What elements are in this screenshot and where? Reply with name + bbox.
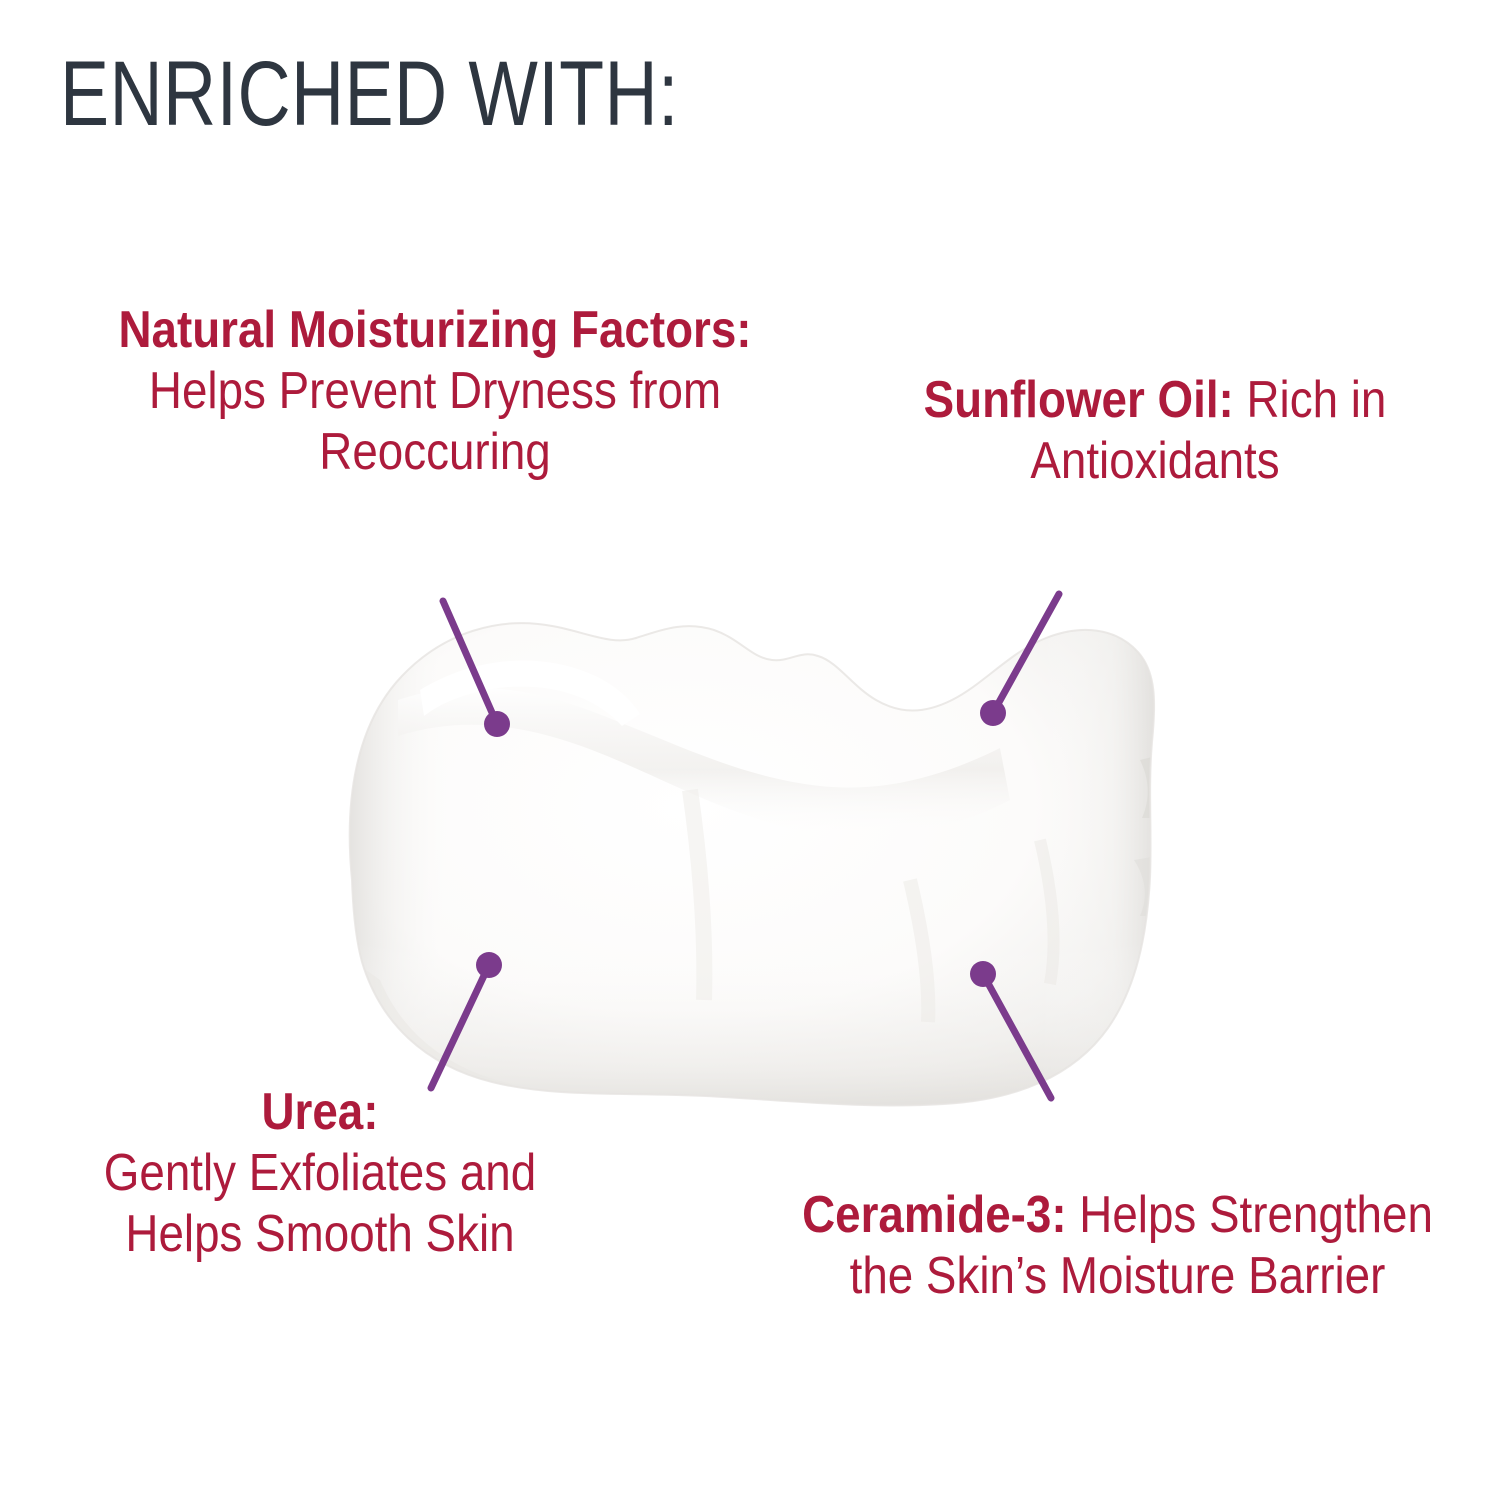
leader-line-ceramide-3	[970, 961, 1051, 1098]
infographic-canvas: ENRICHED WITH:	[0, 0, 1500, 1500]
callout-sunflower-oil: Sunflower Oil: Rich in Antioxidants	[860, 370, 1450, 492]
callout-urea: Urea: Gently Exfoliates and Helps Smooth…	[47, 1082, 593, 1264]
callout-term: Sunflower Oil:	[924, 371, 1234, 429]
leader-line-sunflower-oil	[980, 594, 1059, 726]
callout-natural-moisturizing-factors: Natural Moisturizing Factors: Helps Prev…	[70, 300, 800, 482]
callout-term: Ceramide-3:	[802, 1186, 1066, 1244]
leader-line-urea	[431, 952, 502, 1088]
callout-term: Urea:	[261, 1083, 378, 1141]
callout-description: Helps Prevent Dryness from Reoccuring	[149, 362, 721, 481]
page-title: ENRICHED WITH:	[60, 48, 679, 140]
callout-description: Gently Exfoliates and Helps Smooth Skin	[104, 1144, 536, 1263]
leader-line-natural-moisturizing-factors	[443, 601, 510, 737]
cream-blob	[340, 600, 1170, 1120]
callout-ceramide-3: Ceramide-3: Helps Strengthen the Skin’s …	[777, 1185, 1459, 1307]
callout-term: Natural Moisturizing Factors:	[118, 301, 751, 359]
